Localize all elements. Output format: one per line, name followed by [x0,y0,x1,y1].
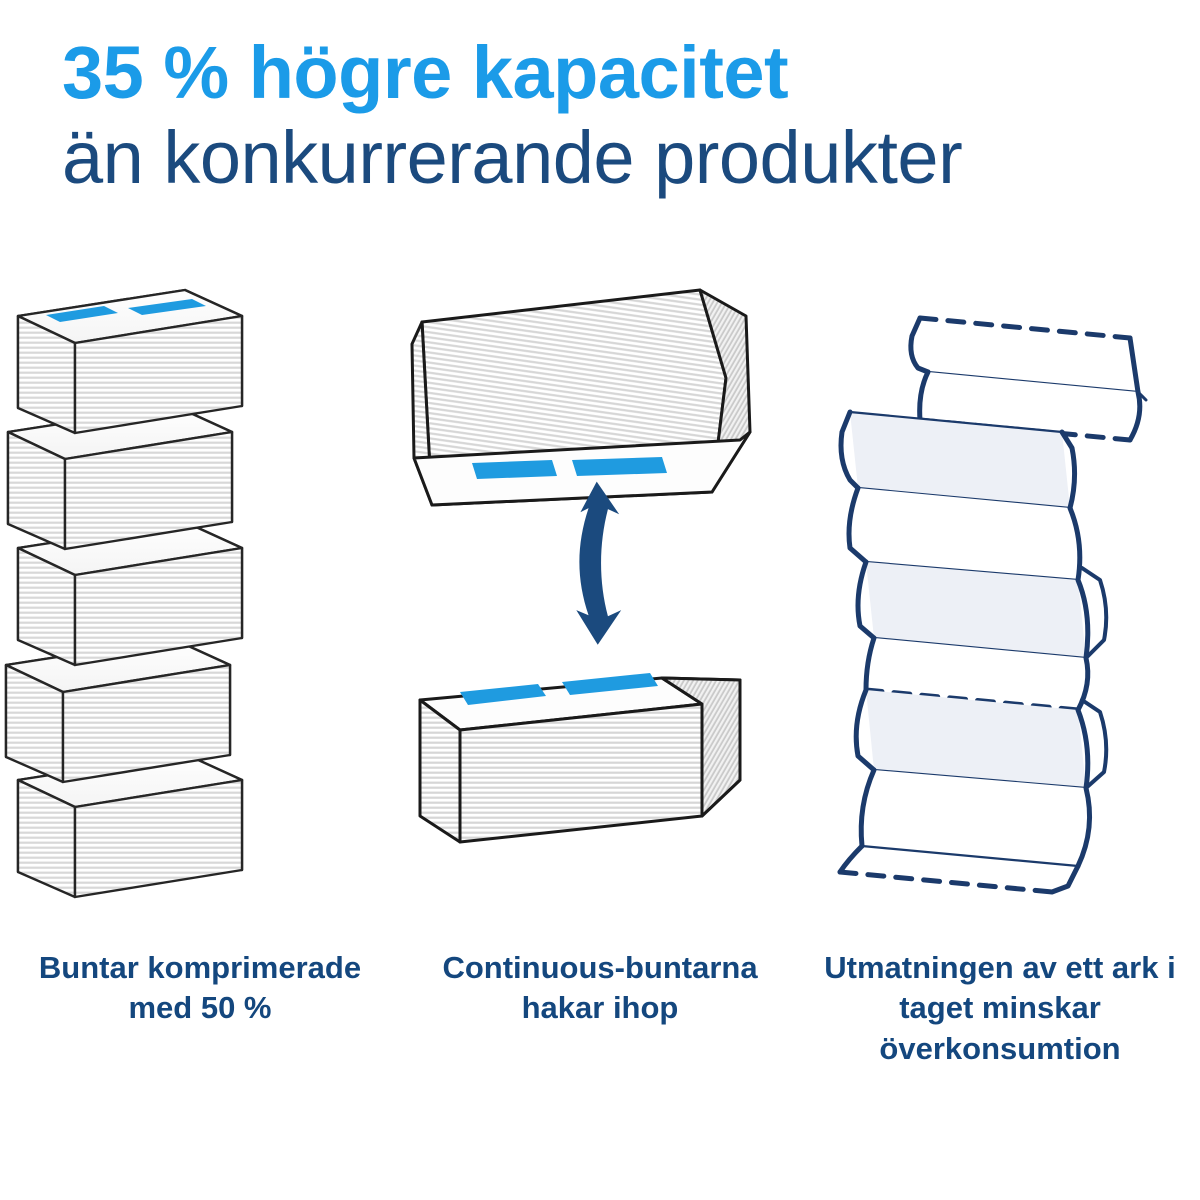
panel-single-sheet-dispensing: Utmatningen av ett ark i taget minskar ö… [800,280,1200,1180]
headline-line-2: än konkurrerande produkter [62,118,1162,198]
double-arrow-icon [512,478,621,645]
illustration-accordion-folded-paper [800,280,1200,940]
illustration-stacked-paper-bundles [0,280,400,940]
paper-bundle-upper [412,290,750,505]
panel-interlocking-bundles: Continuous-buntarna hakar ihop [400,280,800,1180]
paper-bundle [6,639,230,782]
panel-caption-single-sheet-dispensing: Utmatningen av ett ark i taget minskar ö… [820,948,1180,1069]
panel-caption-interlocking-bundles: Continuous-buntarna hakar ihop [420,948,780,1029]
panel-caption-compressed-bundles: Buntar komprimerade med 50 % [20,948,380,1029]
headline-line-1: 35 % högre kapacitet [62,34,1162,112]
illustration-two-bundles-with-double-arrow [400,280,800,940]
paper-bundle-lower [420,673,740,842]
paper-bundle-top [18,290,242,433]
paper-bundle [8,406,232,549]
fold-rear-edges [1082,392,1146,788]
page-title: 35 % högre kapacitet än konkurrerande pr… [62,34,1162,198]
panel-compressed-bundles: Buntar komprimerade med 50 % [0,280,400,1180]
feature-panels: Buntar komprimerade med 50 % [0,280,1200,1180]
